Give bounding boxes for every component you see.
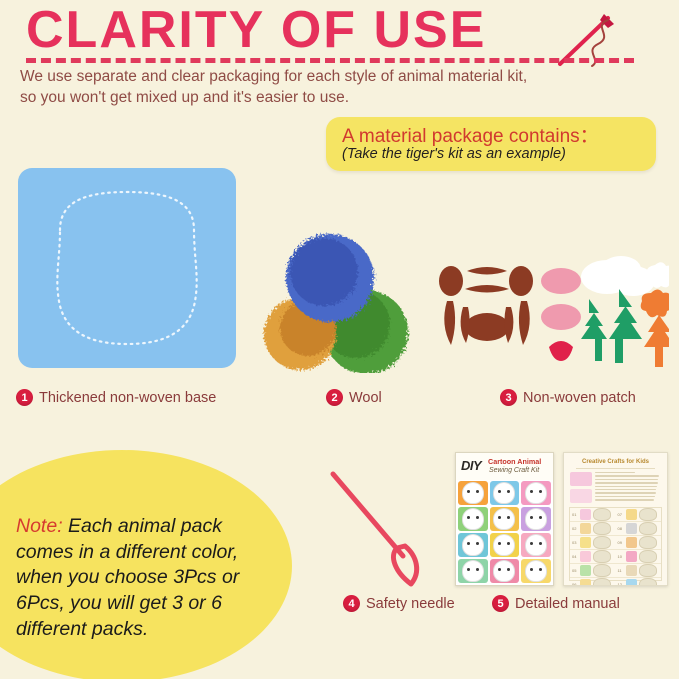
animal-thumbnail [580,579,591,586]
animal-face-icon [493,534,515,556]
template-outline [639,522,657,535]
animal-face-icon [525,482,547,504]
caption-item-1: 1 Thickened non-woven base [16,389,216,406]
manual-sheet-title: Creative Crafts for Kids [564,459,667,465]
template-outline [593,550,611,563]
safety-needle-icon [325,468,445,590]
header-subtitle: We use separate and clear packaging for … [20,66,580,109]
manual-table-row: 03 [570,536,616,550]
manual-animal-cell [458,481,488,505]
animal-thumbnail [626,509,637,520]
manual-title-line-1: Cartoon Animal [488,457,541,466]
animal-face-icon [462,482,484,504]
manual-table-row: 09 [616,536,662,550]
material-package-callout: A material package contains： (Take the t… [326,117,656,171]
animal-thumbnail [626,551,637,562]
caption-item-5: 5 Detailed manual [492,595,620,612]
manual-animal-cell [458,507,488,531]
infographic-root: CLARITY OF USE We use separate and clear… [0,0,679,679]
animal-thumbnail [580,537,591,548]
template-outline [639,508,657,521]
manual-title-line-2: Sewing Craft Kit [489,467,539,474]
manual-sheet-intro [570,472,661,504]
manual-table-row: 02 [570,522,616,536]
callout-subtitle: (Take the tiger's kit as an example) [342,146,566,162]
badge-4: 4 [343,595,360,612]
template-outline [593,578,611,586]
callout-title: A material package contains： [342,121,599,148]
text-line [595,479,658,480]
note-label: Note: [16,515,63,537]
manual-animal-cell [521,507,551,531]
manual-table-row: 07 [616,508,662,522]
caption-item-3: 3 Non-woven patch [500,389,636,406]
text-line [595,492,656,493]
manual-sheet-table: 010203040506070809101112 [569,507,662,581]
non-woven-base-icon [18,168,236,368]
animal-thumbnail [580,523,591,534]
manual-brand: DIY [461,458,481,473]
manual-sheet-divider [576,468,655,469]
non-woven-patch-icon [437,255,669,370]
manual-animal-cell [521,481,551,505]
caption-label-1: Thickened non-woven base [39,390,216,406]
caption-item-2: 2 Wool [326,389,382,406]
animal-thumbnail [580,551,591,562]
text-line [595,496,655,497]
manual-animal-cell [521,533,551,557]
row-number: 04 [572,554,578,559]
manual-cover-icon: DIY Cartoon Animal Sewing Craft Kit [455,452,554,586]
row-number: 01 [572,512,578,517]
manual-table-row: 10 [616,550,662,564]
manual-table-column: 070809101112 [616,508,662,586]
text-line [595,472,635,473]
caption-item-4: 4 Safety needle [343,595,455,612]
template-outline [593,522,611,535]
row-number: 06 [572,582,578,586]
manual-animal-cell [521,559,551,583]
animal-thumbnail [626,579,637,586]
row-number: 11 [618,568,624,573]
animal-face-icon [525,534,547,556]
badge-1: 1 [16,389,33,406]
manual-sheet-icon: Creative Crafts for Kids 010203040506070… [563,452,668,586]
manual-animal-cell [490,481,520,505]
caption-label-2: Wool [349,390,382,406]
subtitle-line-1: We use separate and clear packaging for … [20,66,580,87]
animal-face-icon [462,508,484,530]
template-outline [593,564,611,577]
note-text: Note: Each animal pack comes in a differ… [16,514,266,643]
page-title: CLARITY OF USE [26,4,486,56]
manual-cover-header: DIY Cartoon Animal Sewing Craft Kit [456,453,553,480]
animal-face-icon [525,508,547,530]
manual-animal-cell [458,533,488,557]
manual-table-row: 06 [570,578,616,586]
subtitle-line-2: so you won't get mixed up and it's easie… [20,87,580,108]
animal-thumbnail [626,537,637,548]
caption-label-4: Safety needle [366,596,455,612]
text-line [595,499,654,500]
template-outline [593,508,611,521]
text-line [595,482,658,483]
row-number: 12 [618,582,624,586]
row-number: 05 [572,568,578,573]
template-outline [639,564,657,577]
manual-animal-cell [458,559,488,583]
animal-thumbnail [626,565,637,576]
animal-thumbnail [580,509,591,520]
manual-table-row: 01 [570,508,616,522]
manual-table-row: 05 [570,564,616,578]
title-divider [26,58,634,63]
animal-face-icon [493,482,515,504]
row-number: 07 [618,512,624,517]
badge-5: 5 [492,595,509,612]
template-outline [639,550,657,563]
text-line [595,489,656,490]
manual-animal-grid [458,481,551,583]
row-number: 10 [618,554,624,559]
caption-label-5: Detailed manual [515,596,620,612]
animal-face-icon [462,560,484,582]
manual-table-column: 010203040506 [570,508,616,586]
row-number: 08 [618,526,624,531]
manual-animal-cell [490,533,520,557]
animal-face-icon [525,560,547,582]
badge-2: 2 [326,389,343,406]
manual-table-row: 04 [570,550,616,564]
text-line [595,486,657,487]
row-number: 03 [572,540,578,545]
manual-table-row: 08 [616,522,662,536]
row-number: 02 [572,526,578,531]
animal-thumbnail [626,523,637,534]
manual-table-row: 11 [616,564,662,578]
animal-face-icon [462,534,484,556]
animal-face-icon [493,560,515,582]
animal-face-icon [493,508,515,530]
manual-animal-cell [490,559,520,583]
animal-thumbnail [580,565,591,576]
text-line [595,475,659,476]
template-outline [639,578,657,586]
badge-3: 3 [500,389,517,406]
template-outline [639,536,657,549]
manual-animal-cell [490,507,520,531]
caption-label-3: Non-woven patch [523,390,636,406]
template-outline [593,536,611,549]
manual-table-row: 12 [616,578,662,586]
row-number: 09 [618,540,624,545]
wool-pompoms-icon [258,228,428,373]
